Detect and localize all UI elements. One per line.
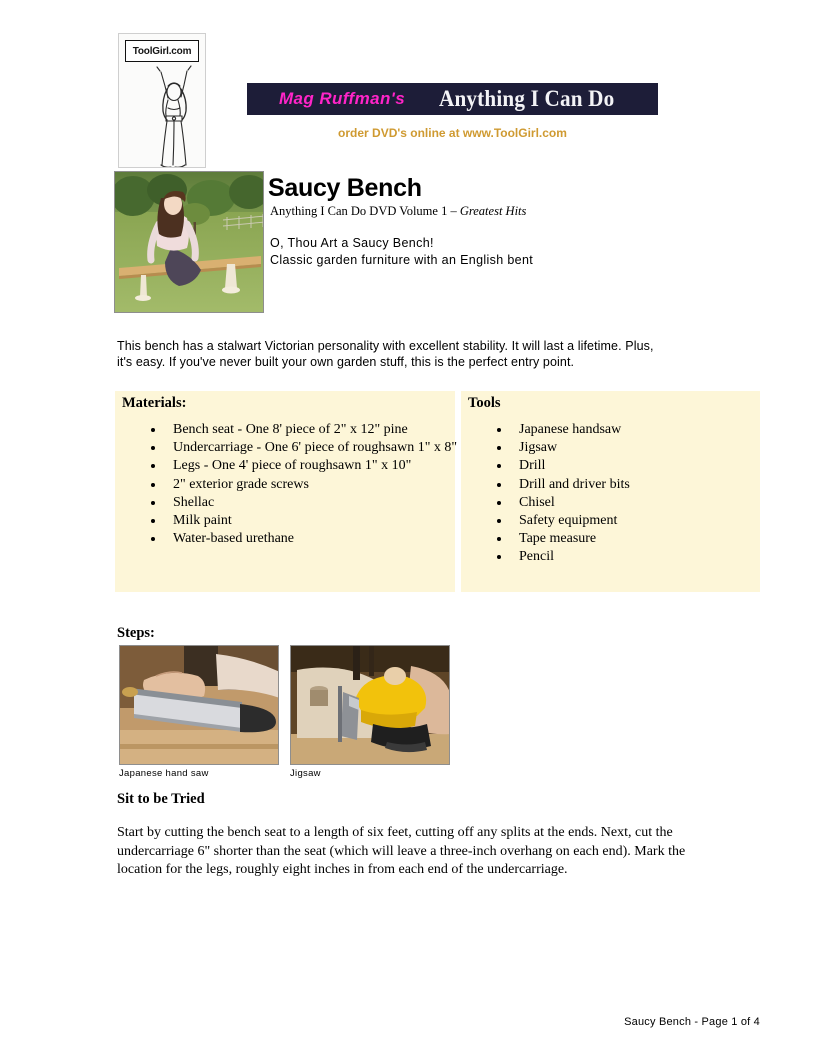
step-caption-jigsaw: Jigsaw bbox=[290, 768, 321, 779]
subtitle-volume: Anything I Can Do DVD Volume 1 – bbox=[270, 204, 460, 218]
list-item: Drill and driver bits bbox=[511, 476, 761, 494]
list-item: Water-based urethane bbox=[165, 530, 465, 548]
toolgirl-logo: ToolGirl.com bbox=[118, 33, 206, 168]
list-item: Safety equipment bbox=[511, 512, 761, 530]
instructions-body: Start by cutting the bench seat to a len… bbox=[117, 824, 733, 880]
list-item: Shellac bbox=[165, 494, 465, 512]
project-tagline: O, Thou Art a Saucy Bench! Classic garde… bbox=[270, 235, 690, 269]
list-item: Japanese handsaw bbox=[511, 421, 761, 439]
list-item: Drill bbox=[511, 457, 761, 475]
subtitle-edition: Greatest Hits bbox=[460, 204, 527, 218]
tagline-line-2: Classic garden furniture with an English… bbox=[270, 252, 690, 269]
list-item: Tape measure bbox=[511, 530, 761, 548]
project-subtitle: Anything I Can Do DVD Volume 1 – Greates… bbox=[270, 204, 526, 219]
page-title: Saucy Bench bbox=[268, 174, 422, 203]
step-photo-japanese-hand-saw bbox=[119, 645, 279, 765]
handsaw-photo-graphic bbox=[120, 646, 279, 765]
list-item: Bench seat - One 8' piece of 2" x 12" pi… bbox=[165, 421, 465, 439]
page-footer: Saucy Bench - Page 1 of 4 bbox=[0, 1016, 760, 1028]
list-item: Pencil bbox=[511, 548, 761, 566]
list-item: Milk paint bbox=[165, 512, 465, 530]
list-item: Legs - One 4' piece of roughsawn 1" x 10… bbox=[165, 457, 465, 475]
step-photo-jigsaw bbox=[290, 645, 450, 765]
toolgirl-figure-icon bbox=[141, 56, 205, 168]
order-dvd-line[interactable]: order DVD's online at www.ToolGirl.com bbox=[247, 126, 658, 140]
materials-heading: Materials: bbox=[122, 395, 186, 412]
list-item: Chisel bbox=[511, 494, 761, 512]
materials-list: Bench seat - One 8' piece of 2" x 12" pi… bbox=[129, 421, 465, 548]
intro-paragraph: This bench has a stalwart Victorian pers… bbox=[117, 338, 669, 371]
show-title-banner: Mag Ruffman's Anything I Can Do bbox=[247, 83, 658, 115]
banner-show-name: Anything I Can Do bbox=[439, 86, 614, 112]
list-item: 2" exterior grade screws bbox=[165, 476, 465, 494]
steps-heading: Steps: bbox=[117, 625, 155, 642]
tools-panel: Tools Japanese handsawJigsawDrillDrill a… bbox=[461, 391, 760, 592]
list-item: Undercarriage - One 6' piece of roughsaw… bbox=[165, 439, 465, 457]
jigsaw-photo-graphic bbox=[291, 646, 450, 765]
banner-owner-name: Mag Ruffman's bbox=[279, 89, 405, 109]
list-item: Jigsaw bbox=[511, 439, 761, 457]
bench-photo-graphic bbox=[115, 172, 264, 313]
instructions-heading: Sit to be Tried bbox=[117, 791, 205, 808]
tagline-line-1: O, Thou Art a Saucy Bench! bbox=[270, 235, 690, 252]
tools-list: Japanese handsawJigsawDrillDrill and dri… bbox=[475, 421, 761, 567]
step-caption-japanese-hand-saw: Japanese hand saw bbox=[119, 768, 209, 779]
toolgirl-sign-label: ToolGirl.com bbox=[133, 46, 192, 57]
tools-heading: Tools bbox=[468, 395, 501, 412]
bench-hero-photo bbox=[114, 171, 264, 313]
materials-panel: Materials: Bench seat - One 8' piece of … bbox=[115, 391, 455, 592]
page-header: ToolGirl.com bbox=[0, 0, 816, 175]
